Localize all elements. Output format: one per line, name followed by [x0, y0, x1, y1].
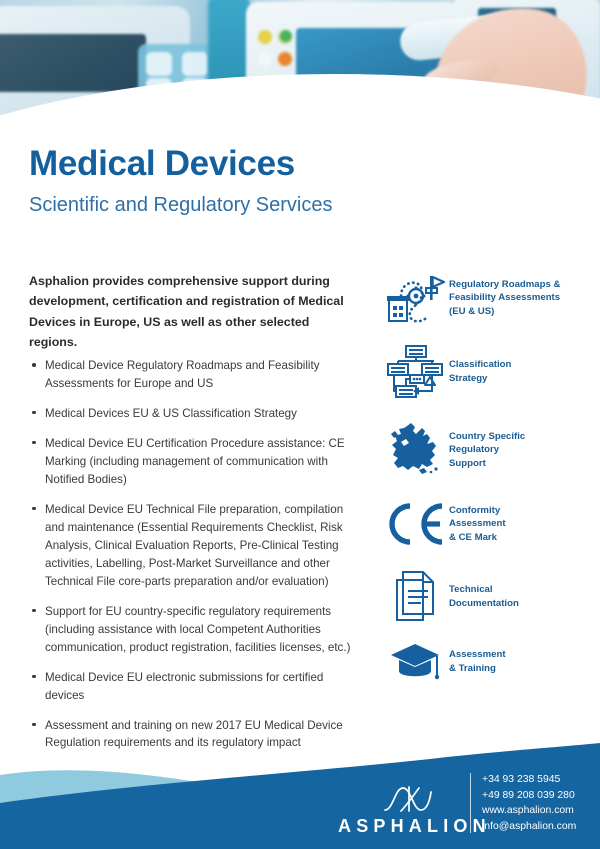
service-label: ClassificationStrategy [449, 358, 511, 385]
footer: ASPHALION +34 93 238 5945+49 89 208 039 … [0, 729, 600, 849]
document-icon [383, 570, 449, 624]
service-item-roadmap-gear-flag: Regulatory Roadmaps &Feasibility Assessm… [383, 270, 588, 326]
list-item: Medical Device Regulatory Roadmaps and F… [29, 357, 359, 393]
asphalion-monogram-icon [379, 784, 437, 814]
page-title: Medical Devices [29, 146, 332, 181]
service-label: Regulatory Roadmaps &Feasibility Assessm… [449, 278, 560, 319]
service-item-classification-flowchart: ClassificationStrategy [383, 344, 588, 400]
lead-paragraph: Asphalion provides comprehensive support… [29, 271, 347, 351]
service-label: ConformityAssessment& CE Mark [449, 504, 506, 545]
service-item-document: TechnicalDocumentation [383, 570, 588, 624]
list-item: Medical Devices EU & US Classification S… [29, 405, 359, 423]
list-item: Medical Device EU electronic submissions… [29, 669, 359, 705]
list-item: Medical Device EU Technical File prepara… [29, 501, 359, 591]
service-item-europe-map: Country SpecificRegulatorySupport [383, 422, 588, 478]
list-item: Medical Device EU Certification Procedur… [29, 435, 359, 489]
list-item: Support for EU country-specific regulato… [29, 603, 359, 657]
footer-divider [470, 773, 471, 833]
title-block: Medical Devices Scientific and Regulator… [29, 146, 332, 215]
service-label: TechnicalDocumentation [449, 583, 519, 610]
brochure-page: Medical Devices Scientific and Regulator… [0, 0, 600, 849]
graduation-cap-icon [383, 640, 449, 684]
classification-flowchart-icon [383, 344, 449, 400]
company-logo: ASPHALION [333, 784, 483, 835]
contact-line: +34 93 238 5945 [482, 772, 576, 788]
service-label: Assessment& Training [449, 648, 506, 675]
roadmap-gear-flag-icon [383, 270, 449, 326]
contact-line[interactable]: www.asphalion.com [482, 803, 576, 819]
europe-map-icon [383, 422, 449, 478]
page-subtitle: Scientific and Regulatory Services [29, 195, 332, 215]
ce-mark-icon [383, 498, 449, 550]
service-label: Country SpecificRegulatorySupport [449, 430, 525, 471]
services-icon-column: Regulatory Roadmaps &Feasibility Assessm… [383, 270, 588, 684]
logo-wordmark: ASPHALION [333, 817, 483, 835]
contact-block: +34 93 238 5945+49 89 208 039 280www.asp… [482, 772, 576, 835]
service-item-graduation-cap: Assessment& Training [383, 640, 588, 684]
service-item-ce-mark: ConformityAssessment& CE Mark [383, 498, 588, 550]
contact-line[interactable]: info@asphalion.com [482, 819, 576, 835]
services-bullet-list: Medical Device Regulatory Roadmaps and F… [29, 357, 359, 764]
hero-image [0, 0, 600, 150]
footer-content: ASPHALION +34 93 238 5945+49 89 208 039 … [0, 757, 600, 849]
contact-line: +49 89 208 039 280 [482, 788, 576, 804]
